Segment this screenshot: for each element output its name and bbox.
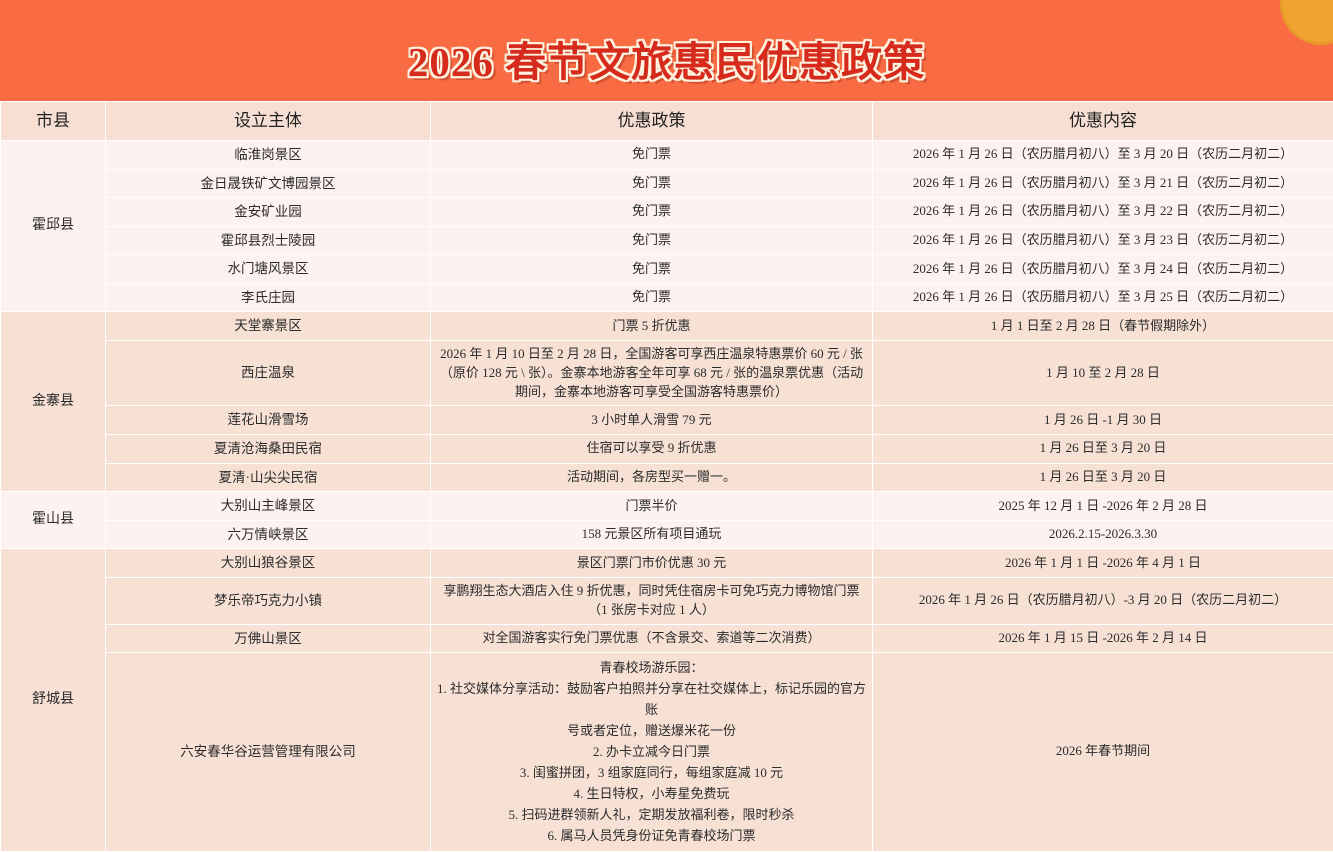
policy-cell: 对全国游客实行免门票优惠（不含景交、索道等二次消费） — [431, 624, 873, 653]
content-cell: 2026 年 1 月 1 日 -2026 年 4 月 1 日 — [873, 549, 1333, 578]
table-row: 夏清·山尖尖民宿活动期间，各房型买一赠一。1 月 26 日至 3 月 20 日 — [1, 463, 1333, 492]
content-cell: 2026 年 1 月 26 日（农历腊月初八）至 3 月 21 日（农历二月初二… — [873, 169, 1333, 198]
policy-cell: 门票半价 — [431, 492, 873, 521]
policy-cell: 景区门票门市价优惠 30 元 — [431, 549, 873, 578]
policy-cell: 免门票 — [431, 255, 873, 284]
policy-cell: 免门票 — [431, 226, 873, 255]
table-row: 西庄温泉2026 年 1 月 10 日至 2 月 28 日，全国游客可享西庄温泉… — [1, 340, 1333, 406]
content-cell: 1 月 10 至 2 月 28 日 — [873, 340, 1333, 406]
policy-cell: 免门票 — [431, 169, 873, 198]
policy-table: 市县 设立主体 优惠政策 优惠内容 霍邱县临淮岗景区免门票2026 年 1 月 … — [0, 101, 1333, 852]
county-cell: 金寨县 — [1, 312, 106, 492]
policy-detail-line: 2. 办卡立减今日门票 — [437, 741, 866, 762]
policy-cell: 免门票 — [431, 141, 873, 170]
policy-cell: 3 小时单人滑雪 79 元 — [431, 406, 873, 435]
table-header-row: 市县 设立主体 优惠政策 优惠内容 — [1, 102, 1333, 141]
column-header-content: 优惠内容 — [873, 102, 1333, 141]
table-row: 金安矿业园免门票2026 年 1 月 26 日（农历腊月初八）至 3 月 22 … — [1, 198, 1333, 227]
county-cell: 舒城县 — [1, 549, 106, 851]
policy-cell: 青春校场游乐园：1. 社交媒体分享活动：鼓励客户拍照并分享在社交媒体上，标记乐园… — [431, 653, 873, 851]
page-banner: 2026 春节文旅惠民优惠政策 — [0, 0, 1333, 101]
table-header: 市县 设立主体 优惠政策 优惠内容 — [1, 102, 1333, 141]
content-cell: 2026 年 1 月 26 日（农历腊月初八）至 3 月 25 日（农历二月初二… — [873, 283, 1333, 312]
content-cell: 1 月 1 日至 2 月 28 日（春节假期除外） — [873, 312, 1333, 341]
policy-cell: 158 元景区所有项目通玩 — [431, 520, 873, 549]
content-cell: 1 月 26 日至 3 月 20 日 — [873, 463, 1333, 492]
table-row: 六万情峡景区158 元景区所有项目通玩2026.2.15-2026.3.30 — [1, 520, 1333, 549]
policy-detail-line: 3. 闺蜜拼团，3 组家庭同行，每组家庭减 10 元 — [437, 762, 866, 783]
content-cell: 2026 年 1 月 15 日 -2026 年 2 月 14 日 — [873, 624, 1333, 653]
table-row: 金日晟铁矿文博园景区免门票2026 年 1 月 26 日（农历腊月初八）至 3 … — [1, 169, 1333, 198]
content-cell: 1 月 26 日至 3 月 20 日 — [873, 435, 1333, 464]
policy-detail-line: 5. 扫码进群领新人礼，定期发放福利卷，限时秒杀 — [437, 804, 866, 825]
policy-cell: 门票 5 折优惠 — [431, 312, 873, 341]
policy-detail-line: 1. 社交媒体分享活动：鼓励客户拍照并分享在社交媒体上，标记乐园的官方账 — [437, 678, 866, 720]
table-row: 霍邱县临淮岗景区免门票2026 年 1 月 26 日（农历腊月初八）至 3 月 … — [1, 141, 1333, 170]
subject-cell: 六万情峡景区 — [106, 520, 431, 549]
table-row: 水门塘风景区免门票2026 年 1 月 26 日（农历腊月初八）至 3 月 24… — [1, 255, 1333, 284]
table-row: 万佛山景区对全国游客实行免门票优惠（不含景交、索道等二次消费）2026 年 1 … — [1, 624, 1333, 653]
table-row: 舒城县大别山狼谷景区景区门票门市价优惠 30 元2026 年 1 月 1 日 -… — [1, 549, 1333, 578]
table-row: 霍山县大别山主峰景区门票半价2025 年 12 月 1 日 -2026 年 2 … — [1, 492, 1333, 521]
county-cell: 霍邱县 — [1, 141, 106, 312]
table-row: 夏清沧海桑田民宿住宿可以享受 9 折优惠1 月 26 日至 3 月 20 日 — [1, 435, 1333, 464]
policy-cell: 免门票 — [431, 198, 873, 227]
subject-cell: 金日晟铁矿文博园景区 — [106, 169, 431, 198]
subject-cell: 临淮岗景区 — [106, 141, 431, 170]
table-row: 霍邱县烈士陵园免门票2026 年 1 月 26 日（农历腊月初八）至 3 月 2… — [1, 226, 1333, 255]
subject-cell: 梦乐帝巧克力小镇 — [106, 577, 431, 624]
subject-cell: 水门塘风景区 — [106, 255, 431, 284]
policy-detail-line: 青春校场游乐园： — [437, 657, 866, 678]
subject-cell: 莲花山滑雪场 — [106, 406, 431, 435]
policy-detail-list: 青春校场游乐园：1. 社交媒体分享活动：鼓励客户拍照并分享在社交媒体上，标记乐园… — [437, 657, 866, 846]
content-cell: 2026 年 1 月 26 日（农历腊月初八）-3 月 20 日（农历二月初二） — [873, 577, 1333, 624]
table-body: 霍邱县临淮岗景区免门票2026 年 1 月 26 日（农历腊月初八）至 3 月 … — [1, 141, 1333, 852]
content-cell: 2026 年 1 月 26 日（农历腊月初八）至 3 月 24 日（农历二月初二… — [873, 255, 1333, 284]
policy-cell: 住宿可以享受 9 折优惠 — [431, 435, 873, 464]
county-cell: 霍山县 — [1, 492, 106, 549]
column-header-county: 市县 — [1, 102, 106, 141]
table-row: 六安春华谷运营管理有限公司青春校场游乐园：1. 社交媒体分享活动：鼓励客户拍照并… — [1, 653, 1333, 851]
content-cell: 1 月 26 日 -1 月 30 日 — [873, 406, 1333, 435]
policy-detail-line: 6. 属马人员凭身份证免青春校场门票 — [437, 825, 866, 846]
subject-cell: 李氏庄园 — [106, 283, 431, 312]
content-cell: 2026 年 1 月 26 日（农历腊月初八）至 3 月 22 日（农历二月初二… — [873, 198, 1333, 227]
policy-cell: 享鹏翔生态大酒店入住 9 折优惠，同时凭住宿房卡可免巧克力博物馆门票（1 张房卡… — [431, 577, 873, 624]
policy-detail-line: 号或者定位，赠送爆米花一份 — [437, 720, 866, 741]
column-header-policy: 优惠政策 — [431, 102, 873, 141]
subject-cell: 六安春华谷运营管理有限公司 — [106, 653, 431, 851]
column-header-subject: 设立主体 — [106, 102, 431, 141]
content-cell: 2026 年 1 月 26 日（农历腊月初八）至 3 月 23 日（农历二月初二… — [873, 226, 1333, 255]
table-row: 梦乐帝巧克力小镇享鹏翔生态大酒店入住 9 折优惠，同时凭住宿房卡可免巧克力博物馆… — [1, 577, 1333, 624]
subject-cell: 大别山狼谷景区 — [106, 549, 431, 578]
subject-cell: 夏清·山尖尖民宿 — [106, 463, 431, 492]
content-cell: 2026 年春节期间 — [873, 653, 1333, 851]
page-title: 2026 春节文旅惠民优惠政策 — [0, 28, 1333, 88]
subject-cell: 金安矿业园 — [106, 198, 431, 227]
content-cell: 2026 年 1 月 26 日（农历腊月初八）至 3 月 20 日（农历二月初二… — [873, 141, 1333, 170]
policy-cell: 免门票 — [431, 283, 873, 312]
subject-cell: 西庄温泉 — [106, 340, 431, 406]
subject-cell: 大别山主峰景区 — [106, 492, 431, 521]
subject-cell: 霍邱县烈士陵园 — [106, 226, 431, 255]
table-row: 莲花山滑雪场3 小时单人滑雪 79 元1 月 26 日 -1 月 30 日 — [1, 406, 1333, 435]
table-row: 李氏庄园免门票2026 年 1 月 26 日（农历腊月初八）至 3 月 25 日… — [1, 283, 1333, 312]
policy-cell: 2026 年 1 月 10 日至 2 月 28 日，全国游客可享西庄温泉特惠票价… — [431, 340, 873, 406]
policy-cell: 活动期间，各房型买一赠一。 — [431, 463, 873, 492]
subject-cell: 天堂寨景区 — [106, 312, 431, 341]
table-row: 金寨县天堂寨景区门票 5 折优惠1 月 1 日至 2 月 28 日（春节假期除外… — [1, 312, 1333, 341]
content-cell: 2025 年 12 月 1 日 -2026 年 2 月 28 日 — [873, 492, 1333, 521]
subject-cell: 万佛山景区 — [106, 624, 431, 653]
policy-detail-line: 4. 生日特权，小寿星免费玩 — [437, 783, 866, 804]
content-cell: 2026.2.15-2026.3.30 — [873, 520, 1333, 549]
subject-cell: 夏清沧海桑田民宿 — [106, 435, 431, 464]
